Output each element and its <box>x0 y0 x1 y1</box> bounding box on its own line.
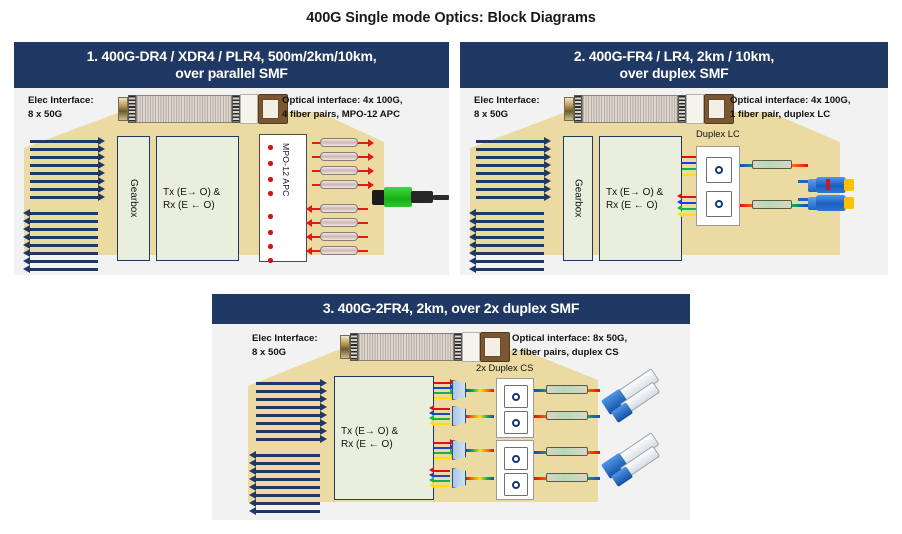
panel-2-elec-callout: Elec Interface: 8 x 50G <box>474 94 540 122</box>
tx-rx-label: Tx (E→ O) & Rx (E ← O) <box>600 137 681 260</box>
cs-duplex-connector-1 <box>596 359 674 433</box>
tx-rx-label: Tx (E→ O) & Rx (E ← O) <box>335 377 433 499</box>
panel-3-body: Elec Interface: 8 x 50G Optical interfac… <box>212 324 690 520</box>
panel-1-header-line-1: 1. 400G-DR4 / XDR4 / PLR4, 500m/2km/10km… <box>87 48 377 65</box>
module-edge-fingers-left <box>128 95 136 123</box>
panel-1-body: Elec Interface: 8 x 50G Optical interfac… <box>14 88 449 275</box>
panel-2-optical-callout: Optical interface: 4x 100G, 1 fiber pair… <box>730 94 851 122</box>
tx-rx-block: Tx (E→ O) & Rx (E ← O) <box>156 136 239 261</box>
panel-1-header: 1. 400G-DR4 / XDR4 / PLR4, 500m/2km/10km… <box>14 42 449 88</box>
module-gold-contacts <box>118 97 128 121</box>
lc-port-1 <box>706 157 732 183</box>
panel-2: 2. 400G-FR4 / LR4, 2km / 10km, over dupl… <box>460 42 888 275</box>
mpo-12-apc-ferrule: MPO-12 APC <box>259 134 307 262</box>
cs-port-2 <box>504 411 528 434</box>
panel-1: 1. 400G-DR4 / XDR4 / PLR4, 500m/2km/10km… <box>14 42 449 275</box>
gearbox-label: Gearbox <box>118 137 149 260</box>
module-latch <box>240 94 258 124</box>
qsfp-dd-module <box>564 94 729 124</box>
lc-port-2 <box>706 191 732 217</box>
module-latch <box>462 332 480 362</box>
panel-1-header-line-2: over parallel SMF <box>175 65 288 82</box>
panel-3-elec-callout: Elec Interface: 8 x 50G <box>252 332 318 360</box>
mpo-apc-connector-green <box>366 186 449 208</box>
module-pcb <box>136 95 232 123</box>
panel-2-header: 2. 400G-FR4 / LR4, 2km / 10km, over dupl… <box>460 42 888 88</box>
qsfp-dd-module <box>118 94 283 124</box>
gearbox-block: Gearbox <box>563 136 593 261</box>
page-title: 400G Single mode Optics: Block Diagrams <box>0 10 902 26</box>
cs-port-3 <box>504 447 528 470</box>
gearbox-block: Gearbox <box>117 136 150 261</box>
lc-duplex-connector-2 <box>808 192 860 214</box>
tx-rx-block: Tx (E→ O) & Rx (E ← O) <box>334 376 434 500</box>
panel-2-body: Elec Interface: 8 x 50G Optical interfac… <box>460 88 888 275</box>
panel-2-header-line-1: 2. 400G-FR4 / LR4, 2km / 10km, <box>574 48 774 65</box>
duplex-cs-adapter-2 <box>496 440 534 500</box>
cs-duplex-connector-2 <box>596 423 674 497</box>
module-edge-fingers-left <box>350 333 358 361</box>
module-edge-fingers-right <box>454 333 462 361</box>
tx-rx-block: Tx (E→ O) & Rx (E ← O) <box>599 136 682 261</box>
duplex-cs-label: 2x Duplex CS <box>476 362 533 373</box>
module-edge-fingers-left <box>574 95 582 123</box>
module-gold-contacts <box>340 335 350 359</box>
panel-2-header-line-2: over duplex SMF <box>619 65 728 82</box>
slide-root: 400G Single mode Optics: Block Diagrams … <box>0 0 902 534</box>
panel-3-header-line-1: 3. 400G-2FR4, 2km, over 2x duplex SMF <box>323 300 579 317</box>
panel-3: 3. 400G-2FR4, 2km, over 2x duplex SMF El… <box>212 294 690 520</box>
module-pcb <box>358 333 454 361</box>
panel-1-elec-callout: Elec Interface: 8 x 50G <box>28 94 94 122</box>
module-latch <box>686 94 704 124</box>
tx-rx-label: Tx (E→ O) & Rx (E ← O) <box>157 137 238 260</box>
panel-1-optical-callout: Optical interface: 4x 100G, 4 fiber pair… <box>282 94 403 122</box>
module-edge-fingers-right <box>678 95 686 123</box>
panel-3-optical-callout: Optical interface: 8x 50G, 2 fiber pairs… <box>512 332 627 360</box>
module-pcb <box>582 95 678 123</box>
qsfp-dd-module <box>340 332 505 362</box>
duplex-lc-label: Duplex LC <box>696 128 740 139</box>
module-edge-fingers-right <box>232 95 240 123</box>
cs-port-1 <box>504 385 528 408</box>
mpo-ferrule-label: MPO-12 APC <box>281 143 291 197</box>
module-gold-contacts <box>564 97 574 121</box>
gearbox-label: Gearbox <box>564 137 592 260</box>
cs-port-4 <box>504 473 528 496</box>
duplex-cs-adapter-1 <box>496 378 534 438</box>
duplex-lc-adapter <box>696 146 740 226</box>
module-housing <box>480 332 510 362</box>
panel-3-header: 3. 400G-2FR4, 2km, over 2x duplex SMF <box>212 294 690 324</box>
